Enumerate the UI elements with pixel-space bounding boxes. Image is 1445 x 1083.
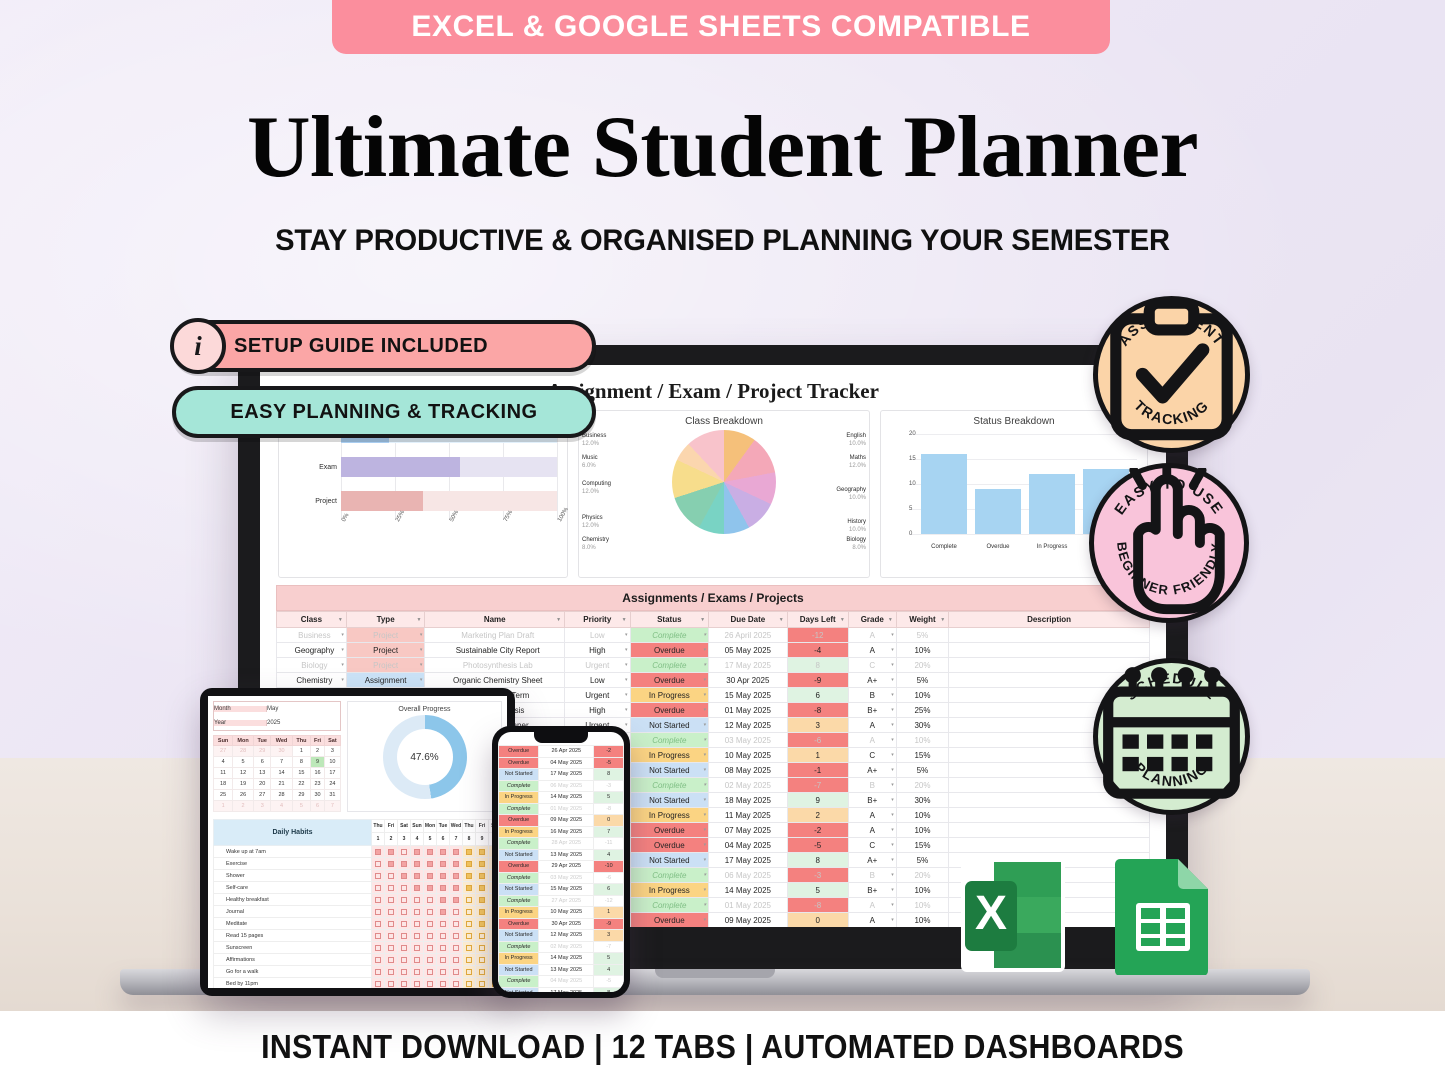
habit-checkbox-cell[interactable] <box>437 930 450 942</box>
cell-due[interactable]: 26 April 2025 <box>709 628 788 643</box>
table-row[interactable]: Geography▾Project▾Sustainable City Repor… <box>277 643 1150 658</box>
checkbox-icon[interactable] <box>427 945 433 951</box>
checkbox-icon[interactable] <box>375 849 381 855</box>
habit-checkbox-cell[interactable] <box>372 858 385 870</box>
checkbox-icon[interactable] <box>414 933 420 939</box>
habit-checkbox-cell[interactable] <box>372 846 385 858</box>
cell-weight[interactable]: 25% <box>896 703 948 718</box>
cell-days[interactable]: 1 <box>787 748 848 763</box>
month-year-selector[interactable]: MonthMay Year2025 <box>213 701 341 731</box>
dropdown-arrow-icon[interactable]: ▾ <box>891 767 894 773</box>
phone-cell-due[interactable]: 01 May 2025 <box>539 803 594 815</box>
cell-name[interactable]: Marketing Plan Draft <box>425 628 565 643</box>
calendar-day[interactable]: 19 <box>233 779 254 790</box>
cell-grade[interactable]: B▾ <box>848 778 896 793</box>
cell-due[interactable]: 12 May 2025 <box>709 718 788 733</box>
dropdown-arrow-icon[interactable]: ▾ <box>891 887 894 893</box>
column-header[interactable]: Status▼ <box>630 612 709 628</box>
cell-days[interactable]: 8 <box>787 658 848 673</box>
phone-cell-due[interactable]: 14 May 2025 <box>539 792 594 804</box>
cell-priority[interactable]: Urgent▾ <box>565 688 630 703</box>
checkbox-icon[interactable] <box>375 861 381 867</box>
phone-cell-due[interactable]: 12 May 2025 <box>539 930 594 942</box>
phone-table-row[interactable]: In Progress14 May 20255 <box>499 953 624 965</box>
filter-icon[interactable]: ▼ <box>940 617 945 623</box>
habit-checkbox-cell[interactable] <box>411 942 424 954</box>
cell-days[interactable]: -4 <box>787 643 848 658</box>
dropdown-arrow-icon[interactable]: ▾ <box>891 737 894 743</box>
phone-cell-due[interactable]: 29 Apr 2025 <box>539 861 594 873</box>
dropdown-arrow-icon[interactable]: ▾ <box>891 632 894 638</box>
checkbox-icon[interactable] <box>375 921 381 927</box>
habit-checkbox-cell[interactable] <box>372 930 385 942</box>
cell-status[interactable]: Overdue▾ <box>630 643 709 658</box>
checkbox-icon[interactable] <box>440 981 446 987</box>
checkbox-icon[interactable] <box>453 921 459 927</box>
cell-grade[interactable]: C▾ <box>848 748 896 763</box>
habit-checkbox-cell[interactable] <box>476 906 489 918</box>
habit-checkbox-cell[interactable] <box>385 978 398 989</box>
filter-icon[interactable]: ▼ <box>556 617 561 623</box>
habit-checkbox-cell[interactable] <box>437 906 450 918</box>
dropdown-arrow-icon[interactable]: ▾ <box>891 722 894 728</box>
calendar-day[interactable]: 18 <box>214 779 233 790</box>
filter-icon[interactable]: ▼ <box>888 617 893 623</box>
dropdown-arrow-icon[interactable]: ▾ <box>891 677 894 683</box>
phone-cell-status[interactable]: Overdue <box>499 918 539 930</box>
checkbox-icon[interactable] <box>440 909 446 915</box>
cell-description[interactable] <box>949 838 1150 853</box>
habit-checkbox-cell[interactable] <box>437 858 450 870</box>
habit-checkbox-cell[interactable] <box>398 870 411 882</box>
phone-table-row[interactable]: Not Started13 May 20254 <box>499 964 624 976</box>
column-header[interactable]: Name▼ <box>425 612 565 628</box>
dropdown-arrow-icon[interactable]: ▾ <box>891 662 894 668</box>
dropdown-arrow-icon[interactable]: ▾ <box>420 677 423 683</box>
dropdown-arrow-icon[interactable]: ▾ <box>704 842 707 848</box>
habit-checkbox-cell[interactable] <box>385 894 398 906</box>
dropdown-arrow-icon[interactable]: ▾ <box>891 707 894 713</box>
habit-checkbox-cell[interactable] <box>411 918 424 930</box>
habit-checkbox-cell[interactable] <box>463 942 476 954</box>
checkbox-icon[interactable] <box>375 897 381 903</box>
cell-weight[interactable]: 10% <box>896 643 948 658</box>
habit-checkbox-cell[interactable] <box>476 942 489 954</box>
column-header[interactable]: Class▼ <box>277 612 347 628</box>
checkbox-icon[interactable] <box>401 885 407 891</box>
cell-status[interactable]: Overdue▾ <box>630 823 709 838</box>
dropdown-arrow-icon[interactable]: ▾ <box>891 902 894 908</box>
habit-checkbox-cell[interactable] <box>398 966 411 978</box>
dropdown-arrow-icon[interactable]: ▾ <box>704 752 707 758</box>
phone-table-row[interactable]: Overdue04 May 2025-5 <box>499 757 624 769</box>
cell-type[interactable]: Project▾ <box>346 628 425 643</box>
habit-checkbox-cell[interactable] <box>437 918 450 930</box>
checkbox-icon[interactable] <box>414 945 420 951</box>
dropdown-arrow-icon[interactable]: ▾ <box>420 662 423 668</box>
cell-status[interactable]: Complete▾ <box>630 658 709 673</box>
filter-icon[interactable]: ▼ <box>338 617 343 623</box>
dropdown-arrow-icon[interactable]: ▾ <box>891 692 894 698</box>
phone-cell-status[interactable]: Complete <box>499 838 539 850</box>
checkbox-icon[interactable] <box>427 933 433 939</box>
cell-due[interactable]: 18 May 2025 <box>709 793 788 808</box>
phone-cell-due[interactable]: 10 May 2025 <box>539 907 594 919</box>
cell-status[interactable]: In Progress▾ <box>630 808 709 823</box>
habit-checkbox-cell[interactable] <box>424 906 437 918</box>
dropdown-arrow-icon[interactable]: ▾ <box>625 677 628 683</box>
calendar-day[interactable]: 6 <box>253 757 271 768</box>
cell-class[interactable]: Biology▾ <box>277 658 347 673</box>
calendar-day[interactable]: 13 <box>253 768 271 779</box>
dropdown-arrow-icon[interactable]: ▾ <box>704 737 707 743</box>
phone-cell-status[interactable]: In Progress <box>499 792 539 804</box>
cell-grade[interactable]: A▾ <box>848 808 896 823</box>
checkbox-icon[interactable] <box>375 933 381 939</box>
habit-checkbox-cell[interactable] <box>476 966 489 978</box>
dropdown-arrow-icon[interactable]: ▾ <box>704 797 707 803</box>
cell-description[interactable] <box>949 628 1150 643</box>
phone-cell-due[interactable]: 09 May 2025 <box>539 815 594 827</box>
cell-due[interactable]: 08 May 2025 <box>709 763 788 778</box>
cell-priority[interactable]: High▾ <box>565 643 630 658</box>
checkbox-icon[interactable] <box>479 945 485 951</box>
checkbox-icon[interactable] <box>427 969 433 975</box>
month-value[interactable]: May <box>266 706 340 712</box>
phone-cell-status[interactable]: Complete <box>499 941 539 953</box>
habit-checkbox-cell[interactable] <box>463 918 476 930</box>
phone-cell-status[interactable]: Overdue <box>499 746 539 758</box>
habit-checkbox-cell[interactable] <box>398 846 411 858</box>
habit-checkbox-cell[interactable] <box>385 918 398 930</box>
filter-icon[interactable]: ▼ <box>416 617 421 623</box>
checkbox-icon[interactable] <box>440 945 446 951</box>
checkbox-icon[interactable] <box>401 921 407 927</box>
cell-grade[interactable]: A+▾ <box>848 673 896 688</box>
checkbox-icon[interactable] <box>427 885 433 891</box>
cell-grade[interactable]: A▾ <box>848 733 896 748</box>
checkbox-icon[interactable] <box>453 957 459 963</box>
cell-due[interactable]: 02 May 2025 <box>709 778 788 793</box>
habit-checkbox-cell[interactable] <box>450 942 463 954</box>
habit-checkbox-cell[interactable] <box>398 930 411 942</box>
habit-checkbox-cell[interactable] <box>476 882 489 894</box>
habit-checkbox-cell[interactable] <box>411 870 424 882</box>
cell-days[interactable]: -12 <box>787 628 848 643</box>
calendar-day[interactable]: 23 <box>311 779 325 790</box>
checkbox-icon[interactable] <box>414 921 420 927</box>
cell-grade[interactable]: C▾ <box>848 658 896 673</box>
checkbox-icon[interactable] <box>388 885 394 891</box>
dropdown-arrow-icon[interactable]: ▾ <box>625 632 628 638</box>
checkbox-icon[interactable] <box>440 969 446 975</box>
phone-table-row[interactable]: Not Started12 May 20253 <box>499 930 624 942</box>
habit-checkbox-cell[interactable] <box>450 978 463 989</box>
phone-cell-due[interactable]: 04 May 2025 <box>539 757 594 769</box>
dropdown-arrow-icon[interactable]: ▾ <box>420 647 423 653</box>
checkbox-icon[interactable] <box>440 849 446 855</box>
phone-table-row[interactable]: In Progress10 May 20251 <box>499 907 624 919</box>
cell-class[interactable]: Business▾ <box>277 628 347 643</box>
calendar-day[interactable]: 21 <box>271 779 292 790</box>
cell-days[interactable]: 9 <box>787 793 848 808</box>
phone-cell-status[interactable]: Complete <box>499 895 539 907</box>
cell-name[interactable]: Sustainable City Report <box>425 643 565 658</box>
phone-cell-due[interactable]: 28 Apr 2025 <box>539 838 594 850</box>
cell-weight[interactable]: 10% <box>896 913 948 928</box>
checkbox-icon[interactable] <box>427 849 433 855</box>
habit-checkbox-cell[interactable] <box>476 954 489 966</box>
dropdown-arrow-icon[interactable]: ▾ <box>704 767 707 773</box>
dropdown-arrow-icon[interactable]: ▾ <box>704 782 707 788</box>
calendar-day[interactable]: 8 <box>292 757 311 768</box>
calendar-day[interactable]: 29 <box>292 790 311 801</box>
cell-name[interactable]: Organic Chemistry Sheet <box>425 673 565 688</box>
habit-checkbox-cell[interactable] <box>411 894 424 906</box>
calendar-day[interactable]: 20 <box>253 779 271 790</box>
checkbox-icon[interactable] <box>427 909 433 915</box>
calendar-day[interactable]: 27 <box>253 790 271 801</box>
cell-grade[interactable]: B▾ <box>848 868 896 883</box>
calendar-day[interactable]: 6 <box>311 801 325 812</box>
phone-cell-days[interactable]: -9 <box>594 918 624 930</box>
checkbox-icon[interactable] <box>479 885 485 891</box>
cell-priority[interactable]: Low▾ <box>565 628 630 643</box>
checkbox-icon[interactable] <box>414 861 420 867</box>
phone-table-row[interactable]: Complete01 May 2025-8 <box>499 803 624 815</box>
cell-weight[interactable]: 10% <box>896 733 948 748</box>
cell-grade[interactable]: B+▾ <box>848 703 896 718</box>
phone-cell-days[interactable]: 6 <box>594 884 624 896</box>
cell-due[interactable]: 17 May 2025 <box>709 853 788 868</box>
phone-cell-due[interactable]: 17 May 2025 <box>539 769 594 781</box>
table-row[interactable]: Biology▾Project▾Photosynthesis LabUrgent… <box>277 658 1150 673</box>
phone-cell-due[interactable]: 15 May 2025 <box>539 884 594 896</box>
cell-days[interactable]: -2 <box>787 823 848 838</box>
checkbox-icon[interactable] <box>453 909 459 915</box>
calendar-day[interactable]: 1 <box>292 746 311 757</box>
habit-checkbox-cell[interactable] <box>437 846 450 858</box>
cell-weight[interactable]: 20% <box>896 778 948 793</box>
phone-cell-due[interactable]: 02 May 2025 <box>539 941 594 953</box>
cell-weight[interactable]: 10% <box>896 898 948 913</box>
cell-type[interactable]: Project▾ <box>346 643 425 658</box>
calendar-day[interactable]: 12 <box>233 768 254 779</box>
cell-status[interactable]: In Progress▾ <box>630 688 709 703</box>
habit-checkbox-cell[interactable] <box>372 894 385 906</box>
phone-cell-days[interactable]: 8 <box>594 769 624 781</box>
habit-checkbox-cell[interactable] <box>450 930 463 942</box>
dropdown-arrow-icon[interactable]: ▾ <box>625 707 628 713</box>
dropdown-arrow-icon[interactable]: ▾ <box>704 677 707 683</box>
dropdown-arrow-icon[interactable]: ▾ <box>891 917 894 923</box>
cell-weight[interactable]: 10% <box>896 808 948 823</box>
habit-checkbox-cell[interactable] <box>411 954 424 966</box>
cell-status[interactable]: Overdue▾ <box>630 673 709 688</box>
phone-table-row[interactable]: In Progress16 May 20257 <box>499 826 624 838</box>
dropdown-arrow-icon[interactable]: ▾ <box>704 827 707 833</box>
calendar-day[interactable]: 9 <box>311 757 325 768</box>
cell-due[interactable]: 03 May 2025 <box>709 733 788 748</box>
cell-status[interactable]: Complete▾ <box>630 733 709 748</box>
column-header[interactable]: Due Date▼ <box>709 612 788 628</box>
checkbox-icon[interactable] <box>453 873 459 879</box>
dropdown-arrow-icon[interactable]: ▾ <box>625 647 628 653</box>
checkbox-icon[interactable] <box>479 861 485 867</box>
phone-cell-status[interactable]: Complete <box>499 780 539 792</box>
checkbox-icon[interactable] <box>453 969 459 975</box>
checkbox-icon[interactable] <box>414 885 420 891</box>
habit-checkbox-cell[interactable] <box>476 978 489 989</box>
phone-cell-days[interactable]: -6 <box>594 872 624 884</box>
checkbox-icon[interactable] <box>466 945 472 951</box>
habit-checkbox-cell[interactable] <box>437 894 450 906</box>
calendar-day[interactable]: 5 <box>292 801 311 812</box>
calendar-day[interactable]: 2 <box>233 801 254 812</box>
cell-weight[interactable]: 30% <box>896 718 948 733</box>
column-header[interactable]: Days Left▼ <box>787 612 848 628</box>
cell-grade[interactable]: A▾ <box>848 898 896 913</box>
checkbox-icon[interactable] <box>388 945 394 951</box>
dropdown-arrow-icon[interactable]: ▾ <box>341 677 344 683</box>
checkbox-icon[interactable] <box>427 861 433 867</box>
cell-grade[interactable]: A▾ <box>848 628 896 643</box>
dropdown-arrow-icon[interactable]: ▾ <box>891 812 894 818</box>
checkbox-icon[interactable] <box>414 981 420 987</box>
checkbox-icon[interactable] <box>466 981 472 987</box>
dropdown-arrow-icon[interactable]: ▾ <box>341 662 344 668</box>
dropdown-arrow-icon[interactable]: ▾ <box>891 872 894 878</box>
cell-weight[interactable]: 5% <box>896 853 948 868</box>
filter-icon[interactable]: ▼ <box>840 617 845 623</box>
checkbox-icon[interactable] <box>427 873 433 879</box>
phone-cell-days[interactable]: 5 <box>594 792 624 804</box>
cell-weight[interactable]: 15% <box>896 838 948 853</box>
phone-table-row[interactable]: Complete02 May 2025-7 <box>499 941 624 953</box>
phone-cell-days[interactable]: -2 <box>594 746 624 758</box>
year-value[interactable]: 2025 <box>266 720 340 726</box>
cell-type[interactable]: Assignment▾ <box>346 673 425 688</box>
habit-checkbox-cell[interactable] <box>450 870 463 882</box>
phone-cell-days[interactable]: -7 <box>594 941 624 953</box>
habit-checkbox-cell[interactable] <box>385 882 398 894</box>
calendar-day[interactable]: 24 <box>324 779 340 790</box>
calendar-day[interactable]: 25 <box>214 790 233 801</box>
checkbox-icon[interactable] <box>479 981 485 987</box>
habit-checkbox-cell[interactable] <box>450 966 463 978</box>
cell-class[interactable]: Chemistry▾ <box>277 673 347 688</box>
habit-checkbox-cell[interactable] <box>463 906 476 918</box>
cell-weight[interactable]: 20% <box>896 658 948 673</box>
phone-cell-days[interactable]: 1 <box>594 907 624 919</box>
checkbox-icon[interactable] <box>453 933 459 939</box>
checkbox-icon[interactable] <box>440 897 446 903</box>
phone-cell-days[interactable]: -12 <box>594 895 624 907</box>
filter-icon[interactable]: ▼ <box>700 617 705 623</box>
phone-cell-due[interactable]: 30 Apr 2025 <box>539 918 594 930</box>
checkbox-icon[interactable] <box>440 921 446 927</box>
cell-type[interactable]: Project▾ <box>346 658 425 673</box>
checkbox-icon[interactable] <box>388 921 394 927</box>
checkbox-icon[interactable] <box>401 945 407 951</box>
checkbox-icon[interactable] <box>466 933 472 939</box>
habit-checkbox-cell[interactable] <box>424 966 437 978</box>
cell-days[interactable]: -1 <box>787 763 848 778</box>
checkbox-icon[interactable] <box>414 957 420 963</box>
habit-checkbox-cell[interactable] <box>398 858 411 870</box>
cell-weight[interactable]: 20% <box>896 868 948 883</box>
cell-weight[interactable]: 30% <box>896 793 948 808</box>
habit-checkbox-cell[interactable] <box>463 846 476 858</box>
checkbox-icon[interactable] <box>440 873 446 879</box>
phone-cell-status[interactable]: Complete <box>499 872 539 884</box>
checkbox-icon[interactable] <box>375 945 381 951</box>
cell-status[interactable]: Not Started▾ <box>630 793 709 808</box>
checkbox-icon[interactable] <box>414 909 420 915</box>
checkbox-icon[interactable] <box>440 933 446 939</box>
habit-checkbox-cell[interactable] <box>450 882 463 894</box>
checkbox-icon[interactable] <box>466 909 472 915</box>
habit-checkbox-cell[interactable] <box>398 906 411 918</box>
cell-status[interactable]: Complete▾ <box>630 898 709 913</box>
phone-table-row[interactable]: Not Started17 May 20258 <box>499 769 624 781</box>
dropdown-arrow-icon[interactable]: ▾ <box>704 902 707 908</box>
dropdown-arrow-icon[interactable]: ▾ <box>891 857 894 863</box>
calendar-day[interactable]: 1 <box>214 801 233 812</box>
phone-cell-days[interactable]: -8 <box>594 803 624 815</box>
cell-days[interactable]: 5 <box>787 883 848 898</box>
phone-cell-due[interactable]: 14 May 2025 <box>539 953 594 965</box>
cell-due[interactable]: 14 May 2025 <box>709 883 788 898</box>
cell-weight[interactable]: 15% <box>896 748 948 763</box>
cell-days[interactable]: 8 <box>787 853 848 868</box>
checkbox-icon[interactable] <box>479 921 485 927</box>
checkbox-icon[interactable] <box>466 849 472 855</box>
phone-cell-due[interactable]: 06 May 2025 <box>539 780 594 792</box>
calendar-day[interactable]: 4 <box>271 801 292 812</box>
dropdown-arrow-icon[interactable]: ▾ <box>625 662 628 668</box>
cell-due[interactable]: 05 May 2025 <box>709 643 788 658</box>
dropdown-arrow-icon[interactable]: ▾ <box>704 812 707 818</box>
phone-table-row[interactable]: Overdue26 Apr 2025-2 <box>499 746 624 758</box>
habit-checkbox-cell[interactable] <box>411 858 424 870</box>
habit-checkbox-cell[interactable] <box>372 954 385 966</box>
phone-cell-days[interactable]: 4 <box>594 964 624 976</box>
checkbox-icon[interactable] <box>479 873 485 879</box>
phone-cell-due[interactable]: 03 May 2025 <box>539 872 594 884</box>
cell-grade[interactable]: A▾ <box>848 643 896 658</box>
dropdown-arrow-icon[interactable]: ▾ <box>704 872 707 878</box>
checkbox-icon[interactable] <box>453 981 459 987</box>
cell-due[interactable]: 07 May 2025 <box>709 823 788 838</box>
checkbox-icon[interactable] <box>375 981 381 987</box>
habit-checkbox-cell[interactable] <box>450 858 463 870</box>
dropdown-arrow-icon[interactable]: ▾ <box>704 662 707 668</box>
phone-table-row[interactable]: Not Started13 May 20254 <box>499 849 624 861</box>
column-header[interactable]: Priority▼ <box>565 612 630 628</box>
cell-grade[interactable]: B+▾ <box>848 883 896 898</box>
phone-table-row[interactable]: Not Started15 May 20256 <box>499 884 624 896</box>
phone-cell-status[interactable]: Not Started <box>499 769 539 781</box>
phone-table-row[interactable]: Overdue30 Apr 2025-9 <box>499 918 624 930</box>
cell-priority[interactable]: Urgent▾ <box>565 658 630 673</box>
calendar-day[interactable]: 28 <box>233 746 254 757</box>
phone-cell-days[interactable]: -11 <box>594 838 624 850</box>
checkbox-icon[interactable] <box>453 885 459 891</box>
phone-table-row[interactable]: Complete03 May 2025-6 <box>499 872 624 884</box>
cell-due[interactable]: 01 May 2025 <box>709 703 788 718</box>
cell-due[interactable]: 17 May 2025 <box>709 658 788 673</box>
